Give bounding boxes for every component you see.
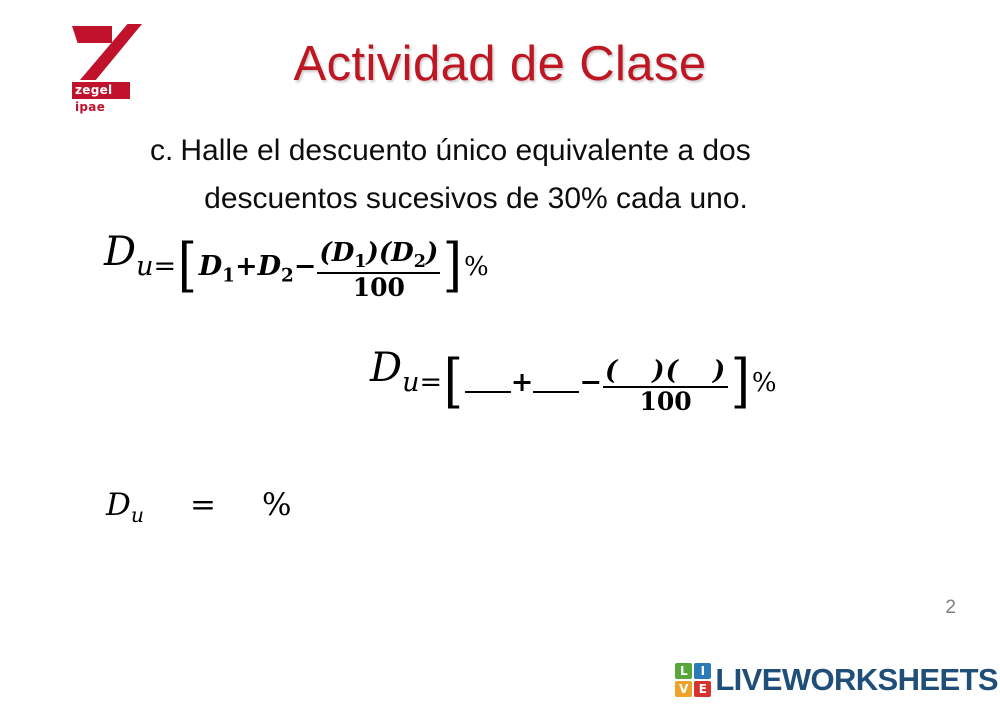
formula1-term-1-sub: 1 <box>222 265 235 286</box>
liveworksheets-wordmark: LIVEWORKSHEETS <box>715 662 998 698</box>
formula1-numerator: (D1)(D2) <box>317 239 440 272</box>
formula2-lhs-variable: D <box>370 345 402 391</box>
formula3-lhs-variable: D <box>106 487 131 523</box>
liveworksheets-footer[interactable]: L I V E LIVEWORKSHEETS <box>675 662 998 698</box>
formula2-numerator: ()() <box>603 357 728 386</box>
formula1-term-2-sub: 2 <box>281 265 294 286</box>
formula2-num-open-paren: ( <box>605 356 618 386</box>
formula2-plus-operator: + <box>511 367 534 398</box>
formula1-num-mid-paren: )( <box>367 238 392 268</box>
question-line-1: c.Halle el descuento único equivalente a… <box>150 127 850 175</box>
formula1-lhs-variable: D <box>104 229 136 275</box>
formula2-minus-operator: − <box>579 367 602 398</box>
formula3-lhs-subscript: u <box>131 503 144 527</box>
formula2-num-close-paren: ) <box>713 356 726 386</box>
logo-tile-i: I <box>694 663 711 679</box>
formula2-blank-1[interactable] <box>465 371 511 393</box>
liveworksheets-logo-icon: L I V E <box>675 663 711 697</box>
formula1-fraction: (D1)(D2)100 <box>317 239 440 302</box>
formula2-blank-2[interactable] <box>533 371 579 393</box>
formula2-num-mid-paren: )( <box>652 356 679 386</box>
formula1-percent-sign: % <box>464 252 489 282</box>
formula3-percent-sign: % <box>262 487 291 523</box>
formula1-term-2-var: D <box>258 251 281 282</box>
formula1-term-2: D2 <box>258 251 294 282</box>
formula2-open-bracket: [ <box>444 364 463 400</box>
formula1-term-1-var: D <box>199 251 222 282</box>
formula2-close-bracket: ] <box>731 364 750 400</box>
formula1-num-var-a: D <box>332 238 355 268</box>
formula1-num-var-b: D <box>391 238 414 268</box>
formula-answer-line: Du=% <box>106 487 291 527</box>
formula2-denominator: 100 <box>603 386 728 416</box>
slide-canvas: zegel ipae Actividad de Clase c.Halle el… <box>0 0 1000 704</box>
question-marker: c. <box>150 134 173 167</box>
logo-tile-e: E <box>694 681 711 697</box>
formula1-minus-operator: − <box>294 251 317 282</box>
logo-tile-l: L <box>675 663 692 679</box>
formula2-fraction: ()()100 <box>603 357 728 416</box>
formula1-num-close-paren: ) <box>426 238 438 268</box>
formula1-lhs-subscript: u= <box>136 251 176 282</box>
question-block: c.Halle el descuento único equivalente a… <box>150 127 850 223</box>
page-title: Actividad de Clase <box>0 36 1000 92</box>
formula-worksheet-blank: Du=[+−()()100]% <box>370 348 777 416</box>
formula1-denominator: 100 <box>317 272 440 302</box>
logo-tile-v: V <box>675 681 692 697</box>
formula1-open-bracket: [ <box>178 248 197 284</box>
formula1-num-open-paren: ( <box>319 238 331 268</box>
formula2-percent-sign: % <box>752 368 777 398</box>
ipae-label: ipae <box>75 100 105 114</box>
question-text-1: Halle el descuento único equivalente a d… <box>180 134 750 167</box>
formula2-lhs-subscript: u= <box>402 367 442 398</box>
formula1-term-1: D1 <box>199 251 235 282</box>
formula1-plus-operator: + <box>235 251 258 282</box>
formula1-num-sub-a: 1 <box>354 251 366 272</box>
formula-reference: Du=[D1+D2−(D1)(D2)100]% <box>104 232 489 302</box>
question-line-2: descuentos sucesivos de 30% cada uno. <box>150 175 850 223</box>
formula1-close-bracket: ] <box>443 248 462 284</box>
formula1-num-sub-b: 2 <box>414 251 426 272</box>
formula3-equals-sign: = <box>190 487 216 523</box>
page-number: 2 <box>945 597 956 619</box>
